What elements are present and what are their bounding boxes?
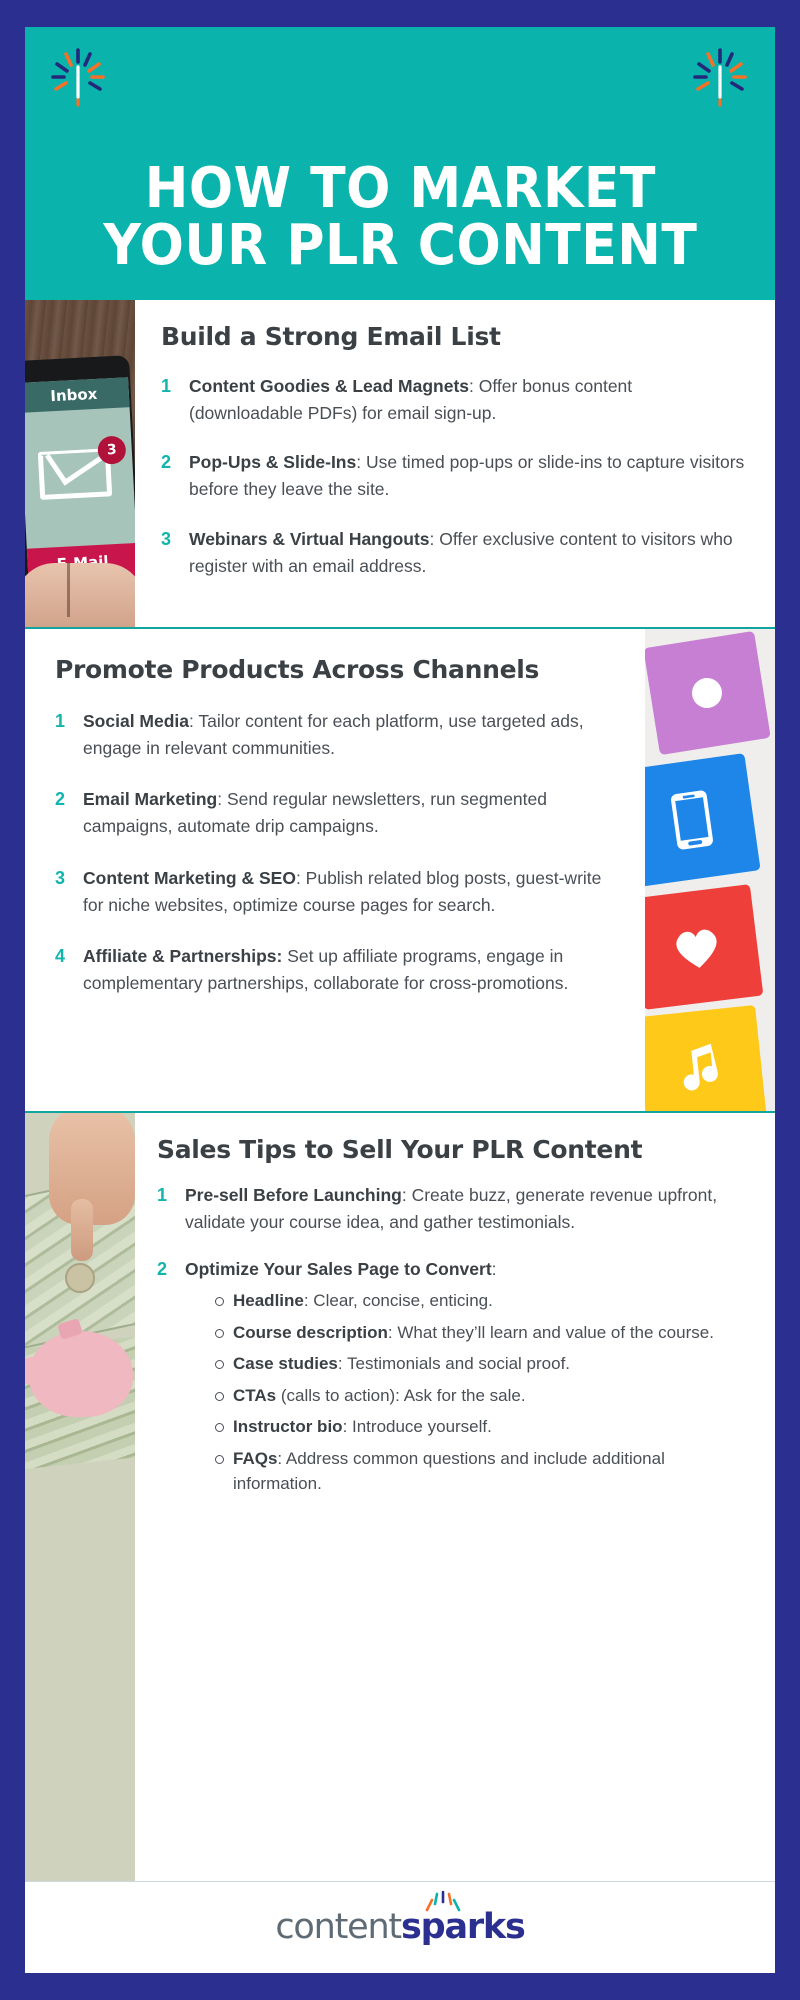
section1-title: Build a Strong Email List [161,322,749,351]
list-text-bold: Content Goodies & Lead Magnets [189,376,469,396]
section3-title: Sales Tips to Sell Your PLR Content [157,1135,751,1164]
sublist-rest: : Testimonials and social proof. [338,1354,570,1373]
list-number: 1 [157,1182,171,1236]
list-item: 3 Webinars & Virtual Hangouts: Offer exc… [161,526,749,580]
list-number: 1 [55,708,69,762]
list-text-bold: Webinars & Virtual Hangouts [189,529,430,549]
list-number: 3 [161,526,175,580]
list-number: 2 [157,1256,171,1284]
list-text-bold: Content Marketing & SEO [83,868,296,888]
brand-logo[interactable]: contentsparks [275,1910,524,1945]
infographic-frame: HOW TO MARKET YOUR PLR CONTENT Inbox 3 E… [25,27,775,1973]
sublist-item: Course description: What they’ll learn a… [213,1320,751,1346]
list-text: Content Marketing & SEO: Publish related… [83,865,623,919]
list-text: Social Media: Tailor content for each pl… [83,708,623,762]
sublist-item: CTAs (calls to action): Ask for the sale… [213,1383,751,1409]
list-text: Affiliate & Partnerships: Set up affilia… [83,943,623,997]
sublist-bold: CTAs [233,1386,276,1405]
section-build-email-list: Inbox 3 E-Mail Build a Strong Email List… [25,300,775,627]
sparkle-icon [45,45,111,111]
section-promote-products: Promote Products Across Channels 1 Socia… [25,629,775,1111]
list-item: 3 Content Marketing & SEO: Publish relat… [55,865,623,919]
section3-sublist: Headline: Clear, concise, enticing. Cour… [157,1288,751,1497]
brand-logo-part1: content [275,1907,401,1947]
page-title: HOW TO MARKET YOUR PLR CONTENT [103,160,697,274]
section-sales-tips: Sales Tips to Sell Your PLR Content 1 Pr… [25,1113,775,1881]
section2-body: Promote Products Across Channels 1 Socia… [25,629,645,1111]
list-text-bold: Affiliate & Partnerships: [83,946,282,966]
cube-blue [645,753,761,887]
sublist-rest: : Introduce yourself. [343,1417,492,1436]
cube-yellow [645,1005,766,1111]
sublist-bold: Course description [233,1323,388,1342]
list-item: 4 Affiliate & Partnerships: Set up affil… [55,943,623,997]
sparkle-icon [421,1890,465,1920]
infographic-page: HOW TO MARKET YOUR PLR CONTENT Inbox 3 E… [0,0,800,2000]
list-item: 1 Pre-sell Before Launching: Create buzz… [157,1182,751,1236]
sublist-rest: : Address common questions and include a… [233,1449,665,1494]
unread-badge: 3 [97,435,126,464]
smartphone-icon [665,787,719,853]
sublist-bold: Case studies [233,1354,338,1373]
section2-list: 1 Social Media: Tailor content for each … [55,708,623,997]
list-text: Webinars & Virtual Hangouts: Offer exclu… [189,526,749,580]
list-text-bold: Optimize Your Sales Page to Convert [185,1259,492,1279]
list-text: Email Marketing: Send regular newsletter… [83,786,623,840]
circle-icon [684,670,730,716]
sublist-rest: : Clear, concise, enticing. [304,1291,493,1310]
list-item: 1 Social Media: Tailor content for each … [55,708,623,762]
sublist-item: FAQs: Address common questions and inclu… [213,1446,751,1497]
music-note-icon [675,1039,726,1094]
section3-body: Sales Tips to Sell Your PLR Content 1 Pr… [135,1113,775,1881]
list-text: Optimize Your Sales Page to Convert: [185,1256,751,1284]
sublist-item: Headline: Clear, concise, enticing. [213,1288,751,1314]
cube-red [645,884,763,1010]
section2-title: Promote Products Across Channels [55,655,623,684]
sublist-rest: (calls to action): Ask for the sale. [276,1386,525,1405]
list-item: 2 Optimize Your Sales Page to Convert: [157,1256,751,1284]
brand-logo-text: contentsparks [275,1910,524,1945]
list-number: 4 [55,943,69,997]
heart-icon [667,919,727,975]
list-text: Content Goodies & Lead Magnets: Offer bo… [189,373,749,427]
page-title-line1: HOW TO MARKET [144,156,655,221]
list-text: Pop-Ups & Slide-Ins: Use timed pop-ups o… [189,449,749,503]
sublist-bold: Instructor bio [233,1417,343,1436]
list-number: 2 [55,786,69,840]
header-banner: HOW TO MARKET YOUR PLR CONTENT [25,27,775,300]
cube-purple [645,631,771,755]
list-text-bold: Email Marketing [83,789,217,809]
sublist-rest: : What they’ll learn and value of the co… [388,1323,714,1342]
sublist-item: Case studies: Testimonials and social pr… [213,1351,751,1377]
list-number: 3 [55,865,69,919]
list-text: Pre-sell Before Launching: Create buzz, … [185,1182,751,1236]
list-number: 1 [161,373,175,427]
section3-list: 1 Pre-sell Before Launching: Create buzz… [157,1182,751,1284]
money-piggybank-photo [25,1113,135,1881]
list-item: 1 Content Goodies & Lead Magnets: Offer … [161,373,749,427]
sublist-bold: FAQs [233,1449,277,1468]
list-text-bold: Social Media [83,711,189,731]
sublist-bold: Headline [233,1291,304,1310]
inbox-label: Inbox [25,377,130,413]
sublist-item: Instructor bio: Introduce yourself. [213,1414,751,1440]
list-item: 2 Email Marketing: Send regular newslett… [55,786,623,840]
list-text-bold: Pre-sell Before Launching [185,1185,402,1205]
sparkle-icon [687,45,753,111]
list-text-rest: : [492,1259,497,1279]
email-inbox-photo: Inbox 3 E-Mail [25,300,135,627]
section1-body: Build a Strong Email List 1 Content Good… [135,300,775,627]
colored-cubes-photo [645,629,775,1111]
list-item: 2 Pop-Ups & Slide-Ins: Use timed pop-ups… [161,449,749,503]
list-text-bold: Pop-Ups & Slide-Ins [189,452,356,472]
list-number: 2 [161,449,175,503]
page-title-line2: YOUR PLR CONTENT [103,217,697,274]
section1-list: 1 Content Goodies & Lead Magnets: Offer … [161,373,749,580]
footer-logo-bar: contentsparks [25,1881,775,1973]
